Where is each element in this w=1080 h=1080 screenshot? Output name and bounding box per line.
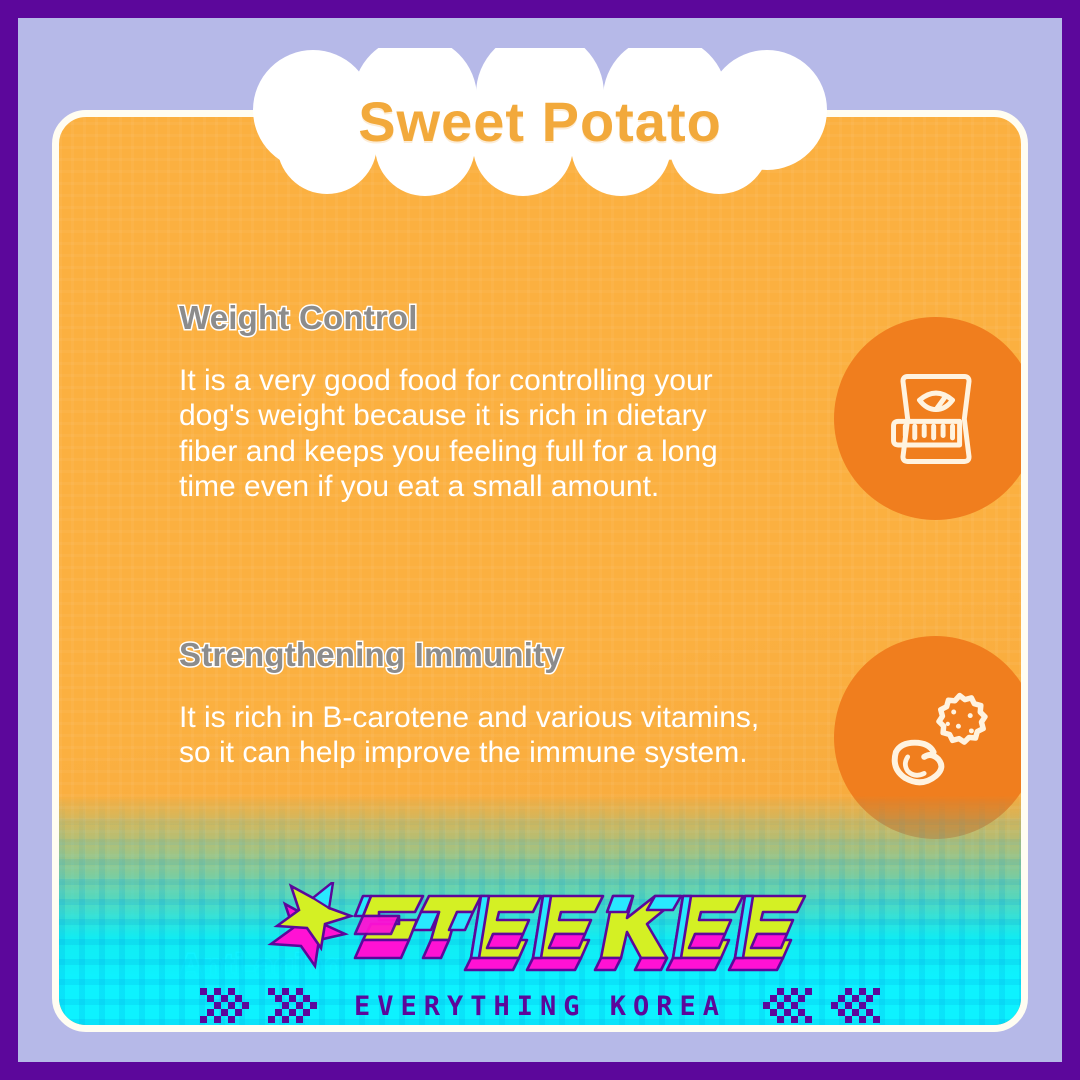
- page-title: Sweet Potato: [249, 48, 831, 198]
- tagline-label: EVERYTHING KOREA: [354, 991, 726, 1022]
- section-body: It is rich in B-carotene and various vit…: [179, 700, 767, 771]
- double-chevron-left-icon: [752, 984, 884, 1028]
- tagline-strip: EVERYTHING KOREA: [18, 984, 1062, 1028]
- double-chevron-right-icon: [196, 984, 328, 1028]
- section-strengthening-immunity: Strengthening Immunity It is rich in B-c…: [179, 636, 1015, 771]
- cloud-title-banner: Sweet Potato: [249, 48, 831, 198]
- section-weight-control: Weight Control It is a very good food fo…: [179, 299, 1015, 505]
- blood-cells-immunity-icon: [877, 679, 995, 797]
- section-heading: Weight Control: [179, 299, 779, 337]
- steekee-logo-icon: [267, 882, 813, 978]
- section-body: It is a very good food for controlling y…: [179, 363, 767, 505]
- blood-cells-immunity-icon-badge: [834, 636, 1028, 839]
- section-heading: Strengthening Immunity: [179, 636, 779, 674]
- weight-scale-tape-icon: [877, 360, 995, 478]
- star-icon: [271, 882, 351, 966]
- poster-page: Weight Control It is a very good food fo…: [18, 18, 1062, 1062]
- weight-scale-tape-icon-badge: [834, 317, 1028, 520]
- section-text-block: Strengthening Immunity It is rich in B-c…: [179, 636, 779, 771]
- poster-root: Weight Control It is a very good food fo…: [0, 0, 1080, 1080]
- brand-watermark: [18, 882, 1062, 978]
- section-text-block: Weight Control It is a very good food fo…: [179, 299, 779, 505]
